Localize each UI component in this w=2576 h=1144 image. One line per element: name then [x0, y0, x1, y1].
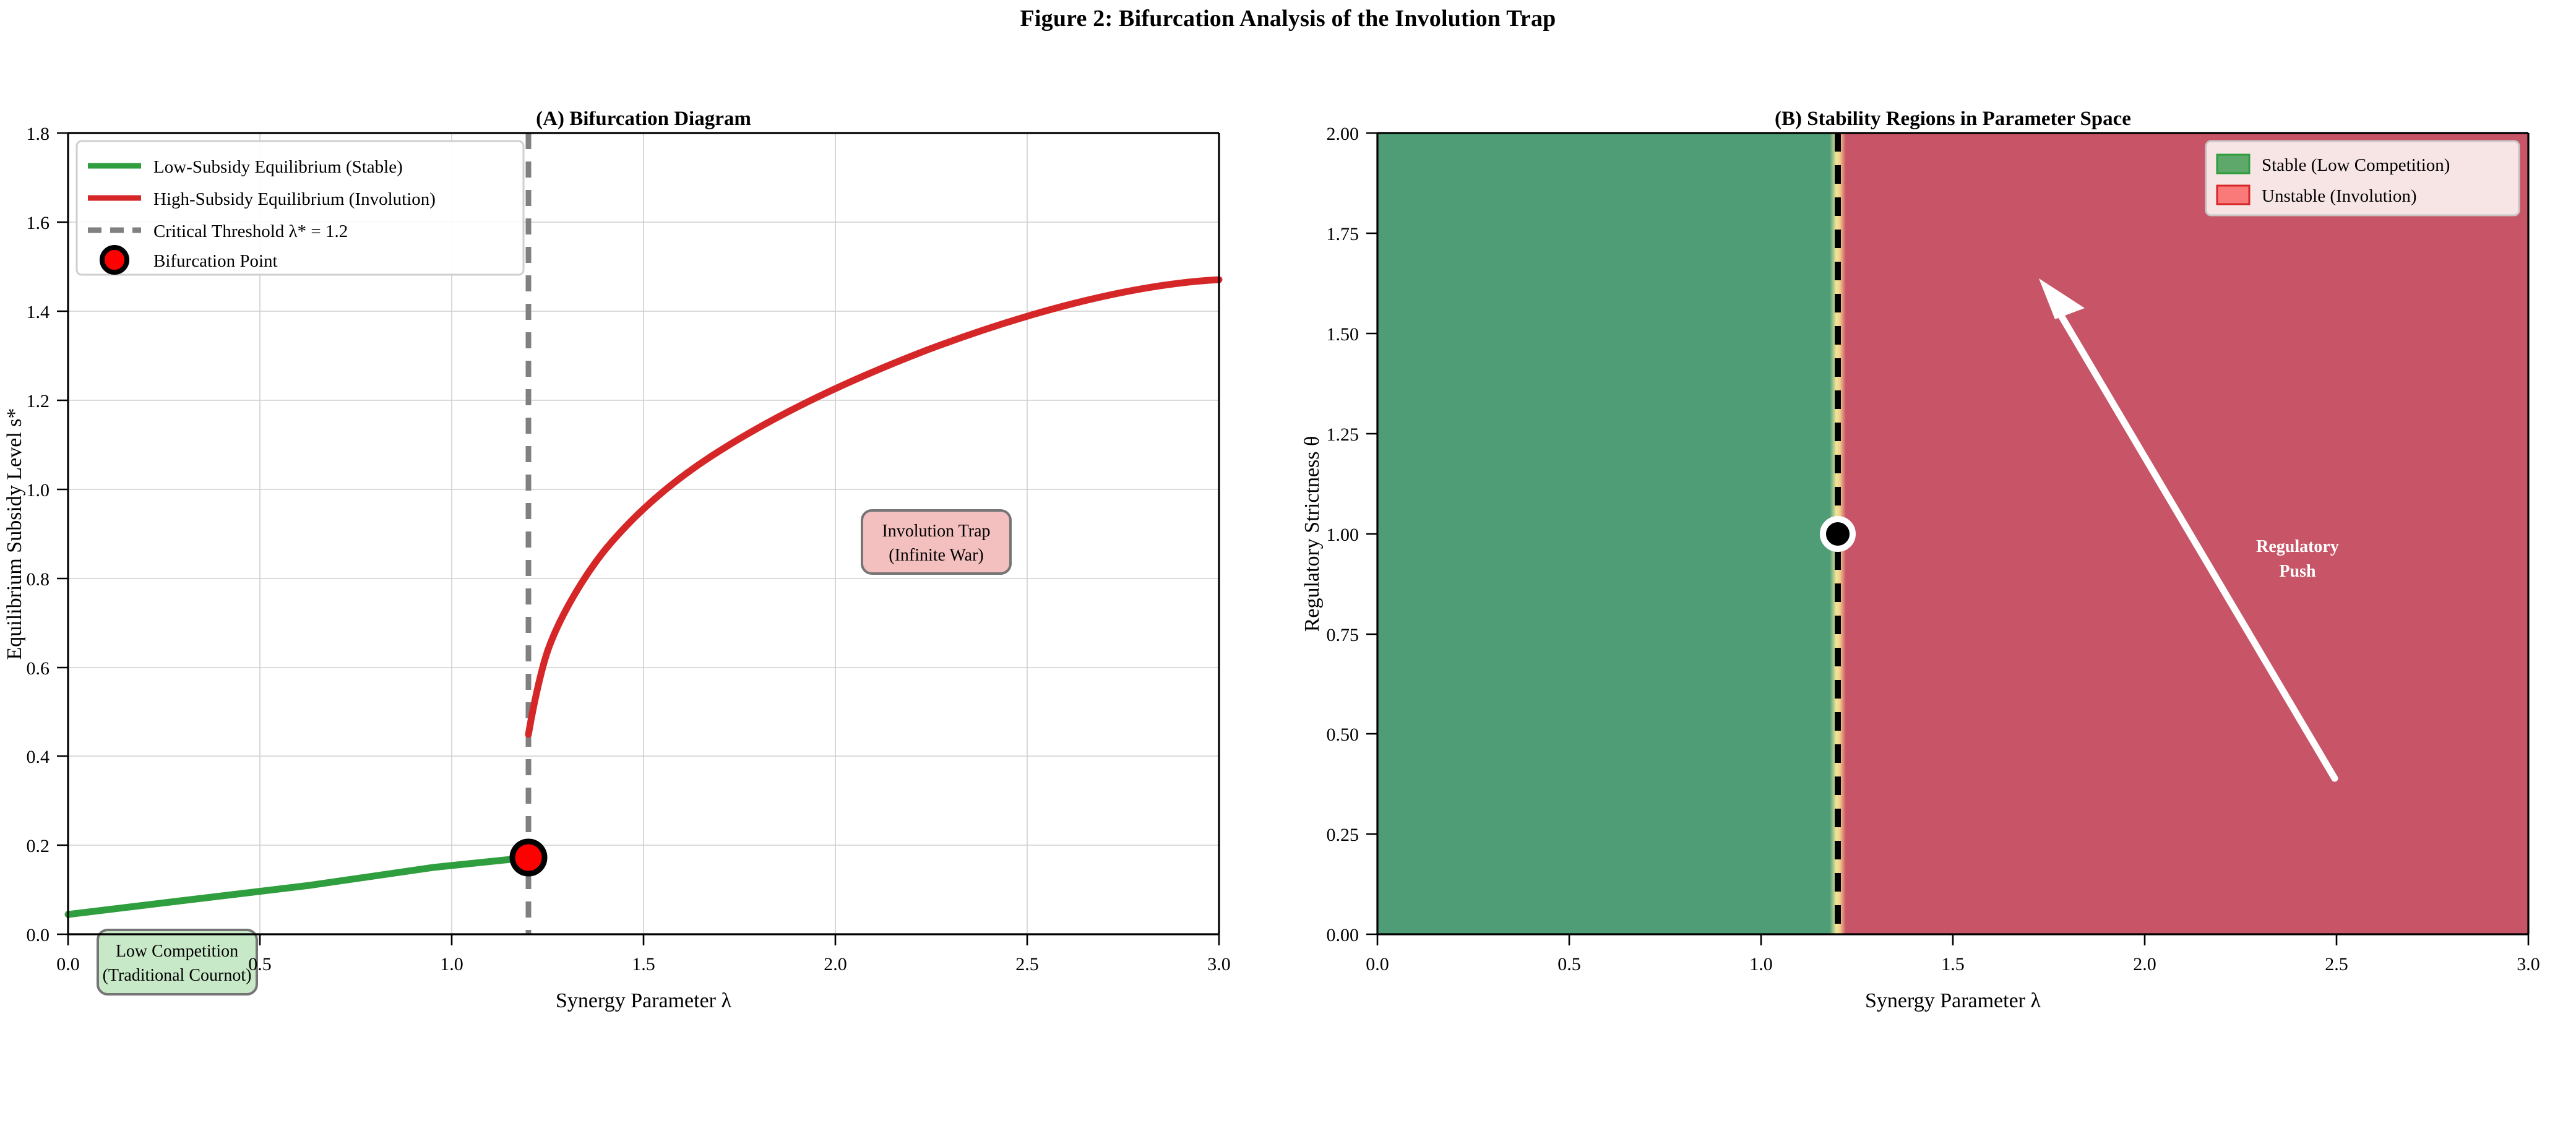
panel-a-xtick-0: 0.0: [56, 954, 80, 974]
panel-b-xtick-1: 0.5: [1557, 954, 1581, 974]
legend-a-label-threshold: Critical Threshold λ* = 1.2: [153, 221, 348, 241]
panel-a-ytick-9: 1.8: [27, 124, 50, 144]
panel-a-xtick-3: 1.5: [632, 954, 655, 974]
legend-a-label-bifurcation: Bifurcation Point: [153, 251, 278, 271]
panel-a-ytick-0: 0.0: [27, 925, 50, 945]
panel-a-ytick-5: 1.0: [27, 480, 50, 501]
panel-b-xlabel: Synergy Parameter λ: [1865, 989, 2041, 1012]
panel-b-ytick-1: 0.25: [1327, 825, 1359, 845]
involution-trap-line1: Involution Trap: [882, 522, 990, 541]
legend-a-swatch-bifurcation: [102, 247, 127, 272]
legend-b-swatch-stable: [2217, 155, 2249, 173]
panel-a-ytick-1: 0.2: [27, 836, 50, 856]
involution-trap-line2: (Infinite War): [889, 546, 984, 565]
panel-a-legend: Low-Subsidy Equilibrium (Stable) High-Su…: [77, 141, 523, 275]
legend-b-swatch-unstable: [2217, 186, 2249, 204]
panel-b-xticks: 0.0 0.5 1.0 1.5 2.0 2.5 3.0: [1366, 934, 2540, 974]
panel-a-xlabel: Synergy Parameter λ: [556, 989, 732, 1012]
panel-a-ytick-6: 1.2: [27, 391, 50, 411]
low-competition-line1: Low Competition: [116, 942, 238, 961]
panel-b-ytick-0: 0.00: [1327, 925, 1359, 945]
panel-b-xtick-4: 2.0: [2133, 954, 2156, 974]
panel-a-xtick-2: 1.0: [440, 954, 463, 974]
panel-b-ytick-2: 0.50: [1327, 725, 1359, 745]
panel-a-title: (A) Bifurcation Diagram: [536, 111, 751, 130]
panel-b-ylabel: Regulatory Strictness θ: [1301, 436, 1324, 632]
panel-b-title: (B) Stability Regions in Parameter Space: [1775, 111, 2131, 130]
panel-b-ytick-6: 1.50: [1327, 324, 1359, 345]
panel-b-ytick-7: 1.75: [1327, 224, 1359, 244]
panel-b-xtick-5: 2.5: [2325, 954, 2348, 974]
regulatory-push-line2: Push: [2279, 562, 2316, 581]
regulatory-push-line1: Regulatory: [2256, 537, 2339, 556]
panel-a-xtick-1: 0.5: [248, 954, 272, 974]
legend-a-label-high-subsidy: High-Subsidy Equilibrium (Involution): [153, 189, 436, 209]
bifurcation-point-marker: [512, 841, 545, 874]
figure-title: Figure 2: Bifurcation Analysis of the In…: [0, 5, 2576, 32]
panel-a-bifurcation-diagram: Involution Trap (Infinite War) Low Compe…: [0, 111, 1287, 1144]
panel-b-ytick-4: 1.00: [1327, 525, 1359, 545]
operating-point-marker: [1823, 519, 1853, 549]
panel-a-xtick-6: 3.0: [1207, 954, 1231, 974]
panel-a-ytick-7: 1.4: [27, 302, 50, 322]
legend-b-label-stable: Stable (Low Competition): [2262, 155, 2450, 175]
panel-a-ytick-8: 1.6: [27, 213, 50, 233]
low-competition-annotation: Low Competition (Traditional Cournot): [98, 930, 257, 994]
panel-b-legend: Stable (Low Competition) Unstable (Invol…: [2206, 141, 2519, 215]
panel-b-ytick-8: 2.00: [1327, 124, 1359, 144]
panel-a-yticks: 0.0 0.2 0.4 0.6 0.8 1.0 1.2 1.4 1.6 1.8: [27, 124, 69, 945]
panel-b-ytick-3: 0.75: [1327, 625, 1359, 645]
panel-a-ylabel: Equilibrium Subsidy Level s*: [3, 408, 26, 660]
panel-b-ytick-5: 1.25: [1327, 424, 1359, 445]
low-competition-line2: (Traditional Cournot): [103, 966, 252, 985]
panel-b-yticks: 0.00 0.25 0.50 0.75 1.00 1.25 1.50 1.75 …: [1327, 124, 1378, 945]
involution-trap-annotation: Involution Trap (Infinite War): [862, 510, 1010, 574]
panel-b-stability-regions: Regulatory Push 0.0 0.5 1.0 1.5 2.0 2.5 …: [1289, 111, 2576, 1144]
unstable-region: [1838, 133, 2528, 934]
stable-region: [1377, 133, 1838, 934]
legend-a-label-low-subsidy: Low-Subsidy Equilibrium (Stable): [153, 157, 403, 177]
panel-b-xtick-6: 3.0: [2517, 954, 2540, 974]
panel-a-xtick-4: 2.0: [824, 954, 847, 974]
panel-a-ytick-2: 0.4: [27, 747, 50, 767]
panel-b-xtick-3: 1.5: [1941, 954, 1965, 974]
panel-a-ytick-4: 0.8: [27, 569, 50, 590]
legend-b-label-unstable: Unstable (Involution): [2262, 186, 2416, 206]
panel-b-xtick-0: 0.0: [1366, 954, 1389, 974]
panel-a-ytick-3: 0.6: [27, 658, 50, 679]
panel-a-xtick-5: 2.5: [1015, 954, 1039, 974]
panel-b-xtick-2: 1.0: [1749, 954, 1773, 974]
